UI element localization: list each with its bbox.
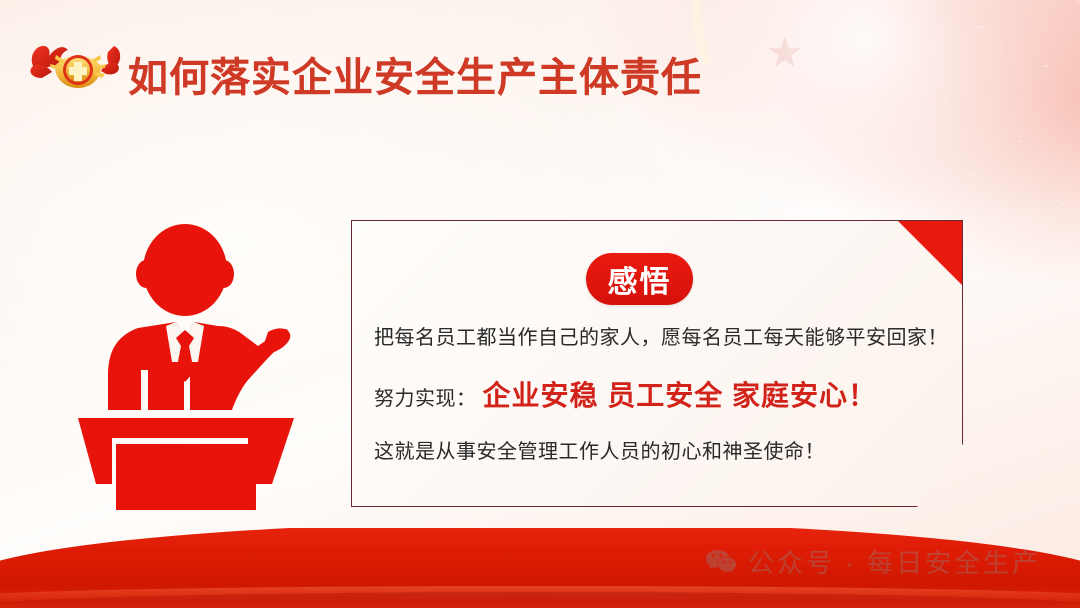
speaker-at-podium-icon (72, 222, 330, 512)
card-line-2: 努力实现： 企业安稳 员工安全 家庭安心！ (374, 377, 954, 415)
watermark-text: 公众号 · 每日安全生产 (748, 543, 1041, 580)
card-line-1: 把每名员工都当作自己的家人，愿每名员工每天能够平安回家！ (374, 325, 954, 352)
status-badge: 感悟 (586, 253, 693, 305)
wechat-icon (706, 549, 736, 575)
card-line-2-prefix: 努力实现： (374, 386, 477, 413)
watermark: 公众号 · 每日安全生产 (706, 543, 1041, 580)
card-body: 把每名员工都当作自己的家人，愿每名员工每天能够平安回家！ 努力实现： 企业安稳 … (374, 325, 954, 466)
card-line-2-highlight: 企业安稳 员工安全 家庭安心！ (483, 377, 878, 415)
slide-root: ★ (0, 0, 1080, 608)
page-title: 如何落实企业安全生产主体责任 (128, 45, 702, 103)
chinese-gold-emblem-icon (22, 26, 134, 102)
card-line-3: 这就是从事安全管理工作人员的初心和神圣使命！ (374, 439, 954, 466)
